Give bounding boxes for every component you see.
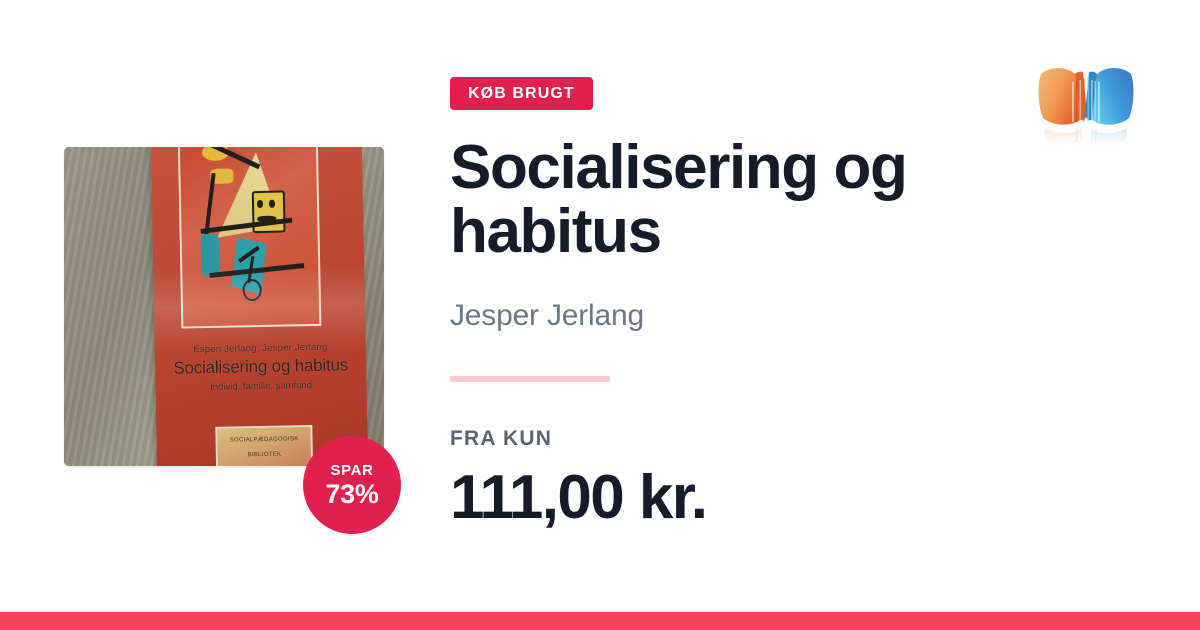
divider bbox=[450, 376, 610, 382]
cover-title: Socialisering og habitus bbox=[165, 355, 355, 379]
artwork-eye-left bbox=[257, 200, 263, 208]
artwork-line-3 bbox=[204, 172, 215, 234]
author-name[interactable]: Jesper Jerlang bbox=[450, 299, 644, 333]
save-badge: SPAR 73% bbox=[303, 436, 401, 534]
book-object: Espen Jerlang, Jesper Jerlang Socialiser… bbox=[150, 147, 368, 466]
price-value: 111,00 kr. bbox=[450, 462, 706, 533]
product-details: KØB BRUGT Socialisering og habitus Jespe… bbox=[450, 0, 1010, 612]
artwork-eye-right bbox=[269, 200, 275, 208]
cover-subtitle: Individ, familie, samfund bbox=[166, 379, 356, 394]
cover-imprint-panel: SOCIALPÆDAGOGISK BIBLIOTEK bbox=[215, 425, 313, 466]
page-canvas: Espen Jerlang, Jesper Jerlang Socialiser… bbox=[0, 0, 1200, 630]
cover-area: Espen Jerlang, Jesper Jerlang Socialiser… bbox=[0, 0, 440, 612]
cover-imprint-line-2: BIBLIOTEK bbox=[218, 451, 311, 459]
condition-badge[interactable]: KØB BRUGT bbox=[450, 77, 593, 110]
logo-reflection bbox=[1045, 128, 1127, 145]
save-badge-label: SPAR bbox=[331, 463, 374, 478]
logo-right-wing bbox=[1085, 68, 1133, 125]
price-label: FRA KUN bbox=[450, 427, 552, 451]
logo-left-wing bbox=[1039, 68, 1087, 125]
page-title: Socialisering og habitus bbox=[450, 136, 1010, 265]
cover-glare bbox=[153, 265, 366, 355]
brand-logo[interactable] bbox=[1036, 52, 1136, 152]
save-badge-value: 73% bbox=[325, 481, 378, 508]
footer-bar bbox=[0, 612, 1200, 630]
cover-imprint-line-1: SOCIALPÆDAGOGISK bbox=[217, 435, 310, 443]
book-cover-image[interactable]: Espen Jerlang, Jesper Jerlang Socialiser… bbox=[64, 147, 384, 466]
